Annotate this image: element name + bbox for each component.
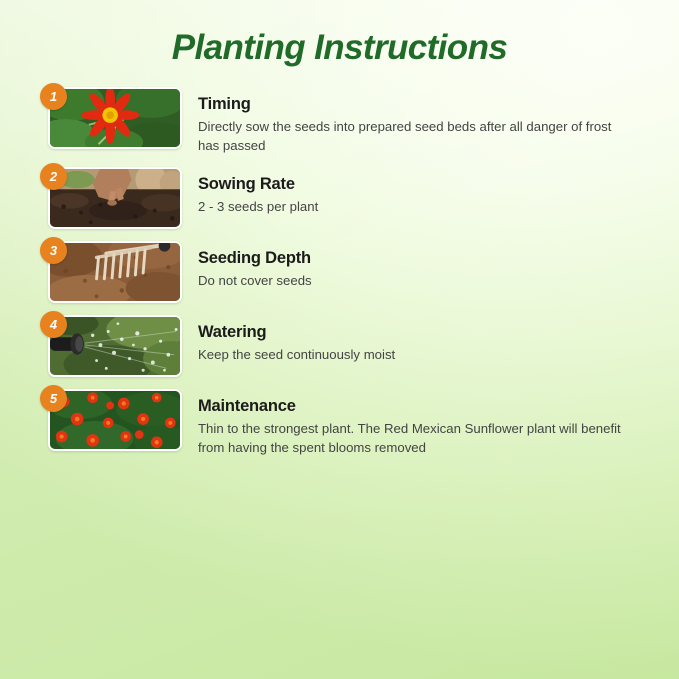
step-title: Maintenance (198, 397, 661, 417)
page-title: Planting Instructions (0, 0, 679, 65)
step-thumbnail-wrap: 4 (40, 315, 182, 377)
step-text: Watering Keep the seed continuously mois… (198, 315, 661, 365)
step-thumbnail-wrap: 2 (40, 167, 182, 229)
step-number-badge: 1 (40, 83, 67, 110)
list-item: 3 (40, 241, 661, 303)
step-thumbnail-wrap: 1 (40, 87, 182, 149)
list-item: 1 (40, 87, 661, 155)
step-title: Timing (198, 95, 661, 115)
list-item: 2 (40, 167, 661, 229)
hose-nozzle-spraying-water-photo (48, 315, 182, 377)
step-text: Sowing Rate 2 - 3 seeds per plant (198, 167, 661, 217)
step-description: Directly sow the seeds into prepared see… (198, 118, 628, 155)
red-flower-field-photo (48, 389, 182, 451)
step-title: Sowing Rate (198, 175, 661, 195)
step-title: Watering (198, 323, 661, 343)
step-thumbnail-wrap: 3 (40, 241, 182, 303)
step-text: Maintenance Thin to the strongest plant.… (198, 389, 661, 457)
list-item: 4 (40, 315, 661, 377)
red-flower-with-leaves-photo (48, 87, 182, 149)
step-text: Seeding Depth Do not cover seeds (198, 241, 661, 291)
rake-on-soil-photo (48, 241, 182, 303)
list-item: 5 (40, 389, 661, 457)
step-description: Keep the seed continuously moist (198, 346, 628, 365)
step-description: Do not cover seeds (198, 272, 628, 291)
step-title: Seeding Depth (198, 249, 661, 269)
step-description: Thin to the strongest plant. The Red Mex… (198, 420, 628, 457)
steps-list: 1 (0, 87, 679, 458)
step-thumbnail-wrap: 5 (40, 389, 182, 451)
step-description: 2 - 3 seeds per plant (198, 198, 628, 217)
hand-sowing-seeds-in-soil-photo (48, 167, 182, 229)
step-text: Timing Directly sow the seeds into prepa… (198, 87, 661, 155)
planting-instructions-infographic: Planting Instructions 1 (0, 0, 679, 679)
